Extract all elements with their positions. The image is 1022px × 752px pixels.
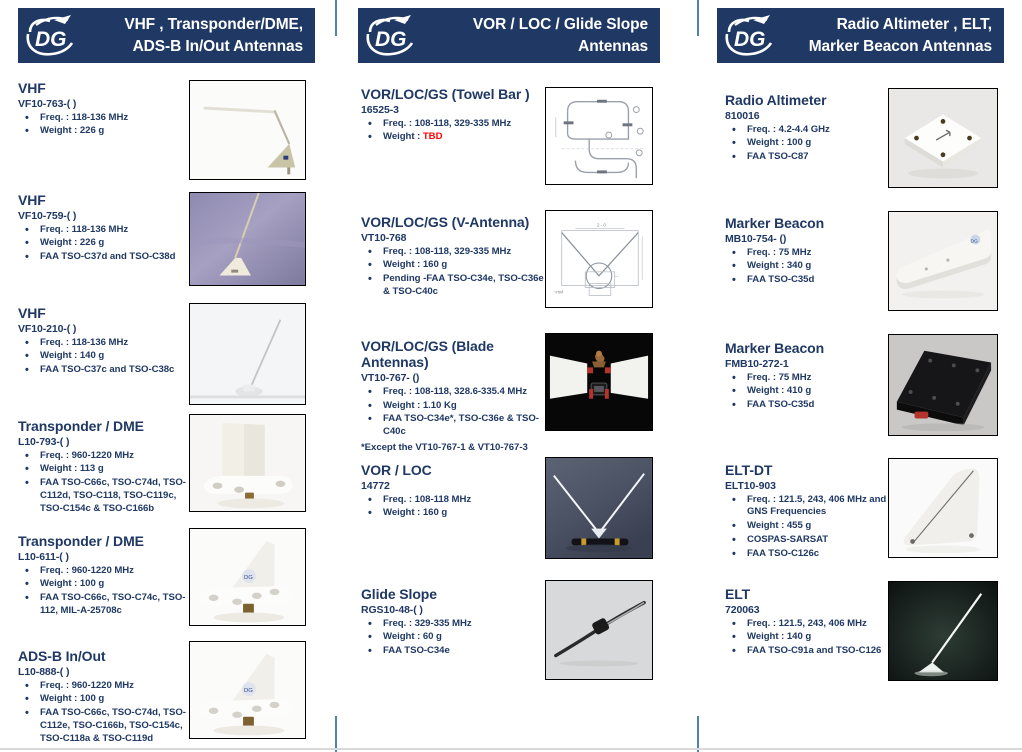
product-model: L10-611-( )	[18, 551, 196, 564]
product-specs: Freq. : 108-118, 329-335 MHz Weight : TB…	[361, 118, 551, 145]
spec-item: Weight : 140 g	[18, 350, 193, 363]
spec-item: Freq. : 960-1220 MHz	[18, 565, 196, 578]
spec-item: FAA TSO-C66c, TSO-C74d, TSO-C112d, TSO-C…	[18, 477, 196, 515]
product-entry-16525-3: VOR/LOC/GS (Towel Bar ) 16525-3 Freq. : …	[361, 86, 551, 145]
spec-item: Freq. : 75 MHz	[725, 372, 890, 385]
product-title: Transponder / DME	[18, 533, 196, 549]
catalog-page: DG VHF , Transponder/DME, ADS-B In/Out A…	[0, 0, 1022, 752]
product-title: VHF	[18, 305, 193, 321]
svg-text:~mvl: ~mvl	[554, 289, 563, 294]
product-entry-vt10-767: VOR/LOC/GS (Blade Antennas) VT10-767- ()…	[361, 338, 561, 454]
product-entry-vt10-768: VOR/LOC/GS (V-Antenna) VT10-768 Freq. : …	[361, 214, 551, 300]
product-specs: Freq. : 960-1220 MHz Weight : 100 g FAA …	[18, 680, 196, 746]
product-photo-l10-611: DG	[189, 528, 306, 626]
product-entry-elt10-903: ELT-DT ELT10-903 Freq. : 121.5, 243, 406…	[725, 462, 900, 561]
svg-text:DG: DG	[244, 688, 253, 694]
product-photo-l10-793	[189, 414, 306, 512]
spec-item: Freq. : 118-136 MHz	[18, 112, 183, 125]
spec-item: Weight : 455 g	[725, 520, 900, 533]
product-specs: Freq. : 118-136 MHz Weight : 140 g FAA T…	[18, 337, 193, 377]
product-specs: Freq. : 118-136 MHz Weight : 226 g FAA T…	[18, 224, 193, 264]
product-model: VF10-210-( )	[18, 323, 193, 336]
product-footnote: *Except the VT10-767-1 & VT10-767-3	[361, 442, 561, 454]
spec-item: Weight : 160 g	[361, 259, 551, 272]
product-photo-mb10-754: DG	[888, 211, 998, 311]
product-model: ELT10-903	[725, 480, 900, 493]
svg-text:DG: DG	[734, 28, 766, 51]
spec-item: Weight : 100 g	[18, 693, 196, 706]
spec-item: Freq. : 108-118, 329-335 MHz	[361, 246, 551, 259]
product-entry-14772: VOR / LOC 14772 Freq. : 108-118 MHz Weig…	[361, 462, 551, 521]
column-header-banner-3: DG Radio Altimeter , ELT, Marker Beacon …	[717, 8, 1004, 63]
product-specs: Freq. : 329-335 MHz Weight : 60 g FAA TS…	[361, 618, 551, 658]
product-model: FMB10-272-1	[725, 358, 890, 371]
spec-item: Weight : 140 g	[725, 631, 900, 644]
product-specs: Freq. : 75 MHz Weight : 410 g FAA TSO-C3…	[725, 372, 890, 412]
column-radio-altimeter-elt: DG Radio Altimeter , ELT, Marker Beacon …	[699, 0, 1022, 752]
spec-item: Freq. : 121.5, 243, 406 MHz	[725, 618, 900, 631]
product-entry-720063: ELT 720063 Freq. : 121.5, 243, 406 MHz W…	[725, 586, 900, 659]
product-specs: Freq. : 108-118 MHz Weight : 160 g	[361, 494, 551, 521]
spec-item: Freq. : 329-335 MHz	[361, 618, 551, 631]
product-specs: Freq. : 960-1220 MHz Weight : 100 g FAA …	[18, 565, 196, 618]
product-title: Radio Altimeter	[725, 92, 890, 108]
product-title: VHF	[18, 80, 183, 96]
spec-item: Weight : 226 g	[18, 125, 183, 138]
column-header-title-1: VHF , Transponder/DME, ADS-B In/Out Ante…	[80, 14, 315, 57]
dg-logo: DG	[717, 8, 779, 63]
spec-item: FAA TSO-C35d	[725, 274, 890, 287]
product-model: 720063	[725, 604, 900, 617]
product-specs: Freq. : 108-118, 329-335 MHz Weight : 16…	[361, 246, 551, 299]
spec-item: Weight : 60 g	[361, 631, 551, 644]
spec-item: FAA TSO-C37c and TSO-C38c	[18, 364, 193, 377]
product-entry-l10-888: ADS-B In/Out L10-888-( ) Freq. : 960-122…	[18, 648, 196, 746]
product-model: VF10-763-( )	[18, 98, 183, 111]
product-model: VT10-768	[361, 232, 551, 245]
spec-item: FAA TSO-C66c, TSO-C74c, TSO-112, MIL-A-2…	[18, 592, 196, 618]
spec-item: Weight : 113 g	[18, 463, 196, 476]
spec-item: Freq. : 121.5, 243, 406 MHz and GNS Freq…	[725, 494, 900, 520]
product-title: VOR/LOC/GS (Towel Bar )	[361, 86, 551, 102]
product-title: Marker Beacon	[725, 340, 890, 356]
spec-item: Freq. : 108-118, 328.6-335.4 MHz	[361, 386, 561, 399]
spec-item: FAA TSO-C91a and TSO-C126	[725, 645, 900, 658]
product-model: VF10-759-( )	[18, 210, 193, 223]
spec-item: Freq. : 75 MHz	[725, 247, 890, 260]
spec-item: FAA TSO-C87	[725, 151, 890, 164]
product-model: 16525-3	[361, 104, 551, 117]
spec-item: FAA TSO-C66c, TSO-C74d, TSO-C112e, TSO-C…	[18, 707, 196, 745]
spec-item: Weight : 160 g	[361, 507, 551, 520]
spec-item: Weight : 100 g	[18, 578, 196, 591]
spec-item: FAA TSO-C34e*, TSO-C36e & TSO-C40c	[361, 413, 561, 439]
spec-item: Freq. : 960-1220 MHz	[18, 450, 196, 463]
product-photo-vf10-759	[189, 192, 306, 286]
product-title: Marker Beacon	[725, 215, 890, 231]
product-specs: Freq. : 108-118, 328.6-335.4 MHz Weight …	[361, 386, 561, 439]
product-model: VT10-767- ()	[361, 372, 561, 385]
product-specs: Freq. : 121.5, 243, 406 MHz Weight : 140…	[725, 618, 900, 658]
spec-item: FAA TSO-C35d	[725, 399, 890, 412]
svg-text:DG: DG	[35, 28, 67, 51]
dg-logo: DG	[18, 8, 80, 63]
product-photo-vf10-210	[189, 303, 306, 405]
product-entry-vf10-759: VHF VF10-759-( ) Freq. : 118-136 MHz Wei…	[18, 192, 193, 265]
svg-text:DG: DG	[244, 575, 253, 581]
dg-logo: DG	[358, 8, 420, 63]
product-title: ELT-DT	[725, 462, 900, 478]
product-title: VOR/LOC/GS (V-Antenna)	[361, 214, 551, 230]
spec-item: Freq. : 4.2-4.4 GHz	[725, 124, 890, 137]
product-entry-vf10-763: VHF VF10-763-( ) Freq. : 118-136 MHz Wei…	[18, 80, 183, 139]
spec-item: Pending -FAA TSO-C34e, TSO-C36e & TSO-C4…	[361, 273, 551, 299]
column-header-banner-1: DG VHF , Transponder/DME, ADS-B In/Out A…	[18, 8, 315, 63]
spec-item: Weight : 1.10 Kg	[361, 400, 561, 413]
product-entry-810016: Radio Altimeter 810016 Freq. : 4.2-4.4 G…	[725, 92, 890, 165]
product-entry-mb10-754: Marker Beacon MB10-754- () Freq. : 75 MH…	[725, 215, 890, 288]
product-title: VOR / LOC	[361, 462, 551, 478]
spec-item: FAA TSO-C37d and TSO-C38d	[18, 251, 193, 264]
product-photo-fmb10-272-1	[888, 334, 998, 436]
product-entry-vf10-210: VHF VF10-210-( ) Freq. : 118-136 MHz Wei…	[18, 305, 193, 378]
product-title: ADS-B In/Out	[18, 648, 196, 664]
spec-item: FAA TSO-C34e	[361, 645, 551, 658]
spec-item: Freq. : 960-1220 MHz	[18, 680, 196, 693]
product-title: ELT	[725, 586, 900, 602]
product-model: L10-793-( )	[18, 436, 196, 449]
spec-item: Weight : 226 g	[18, 237, 193, 250]
product-title: Transponder / DME	[18, 418, 196, 434]
product-photo-towel-bar	[545, 87, 653, 185]
svg-text:DG: DG	[970, 238, 978, 244]
product-model: 810016	[725, 110, 890, 123]
product-photo-vor-loc-14772	[545, 457, 653, 559]
product-photo-blade-antennas	[545, 333, 653, 431]
spec-item: Weight : 100 g	[725, 137, 890, 150]
spec-item: Freq. : 118-136 MHz	[18, 337, 193, 350]
product-entry-l10-611: Transponder / DME L10-611-( ) Freq. : 96…	[18, 533, 196, 619]
product-photo-720063	[888, 581, 998, 681]
column-vhf-transponder: DG VHF , Transponder/DME, ADS-B In/Out A…	[0, 0, 335, 752]
spec-item: Weight : 340 g	[725, 260, 890, 273]
product-entry-fmb10-272-1: Marker Beacon FMB10-272-1 Freq. : 75 MHz…	[725, 340, 890, 413]
product-photo-glide-slope	[545, 580, 653, 680]
product-specs: Freq. : 118-136 MHz Weight : 226 g	[18, 112, 183, 139]
product-model: RGS10-48-( )	[361, 604, 551, 617]
spec-item: COSPAS-SARSAT	[725, 534, 900, 547]
product-title: Glide Slope	[361, 586, 551, 602]
spec-item: Freq. : 108-118, 329-335 MHz	[361, 118, 551, 131]
product-specs: Freq. : 960-1220 MHz Weight : 113 g FAA …	[18, 450, 196, 516]
product-photo-v-antenna: 2 - 0 ~mvl ---	[545, 210, 653, 308]
spec-item: Freq. : 108-118 MHz	[361, 494, 551, 507]
spec-item: FAA TSO-C126c	[725, 548, 900, 561]
tbd-badge: TBD	[423, 131, 443, 142]
product-title: VOR/LOC/GS (Blade Antennas)	[361, 338, 561, 370]
product-photo-l10-888: DG	[189, 641, 306, 739]
column-header-title-3: Radio Altimeter , ELT, Marker Beacon Ant…	[779, 14, 1004, 57]
spec-item-weight-tbd: Weight : TBD	[361, 131, 551, 144]
svg-text:DG: DG	[375, 28, 407, 51]
product-entry-l10-793: Transponder / DME L10-793-( ) Freq. : 96…	[18, 418, 196, 516]
product-specs: Freq. : 75 MHz Weight : 340 g FAA TSO-C3…	[725, 247, 890, 287]
product-entry-rgs10-48: Glide Slope RGS10-48-( ) Freq. : 329-335…	[361, 586, 551, 659]
product-model: 14772	[361, 480, 551, 493]
product-title: VHF	[18, 192, 193, 208]
product-model: MB10-754- ()	[725, 233, 890, 246]
product-specs: Freq. : 4.2-4.4 GHz Weight : 100 g FAA T…	[725, 124, 890, 164]
product-photo-elt10-903	[888, 458, 998, 558]
product-model: L10-888-( )	[18, 666, 196, 679]
product-photo-radio-altimeter	[888, 88, 998, 188]
spec-item: Weight : 410 g	[725, 385, 890, 398]
column-vor-loc-gs: DG VOR / LOC / Glide Slope Antennas VOR/…	[337, 0, 697, 752]
product-photo-vf10-763	[189, 80, 306, 180]
svg-text:2 - 0: 2 - 0	[597, 223, 606, 228]
column-header-title-2: VOR / LOC / Glide Slope Antennas	[420, 14, 660, 57]
spec-item: Freq. : 118-136 MHz	[18, 224, 193, 237]
product-specs: Freq. : 121.5, 243, 406 MHz and GNS Freq…	[725, 494, 900, 561]
column-header-banner-2: DG VOR / LOC / Glide Slope Antennas	[358, 8, 660, 63]
